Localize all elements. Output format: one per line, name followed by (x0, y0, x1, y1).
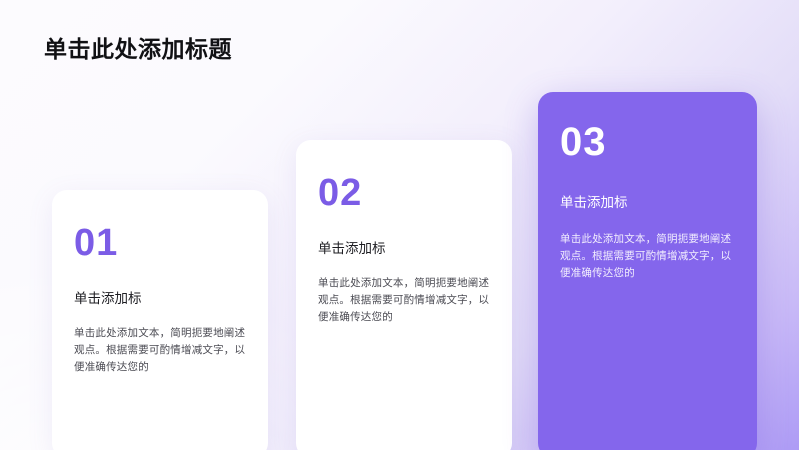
card-body-03[interactable]: 单击此处添加文本，简明扼要地阐述观点。根据需要可酌情增减文字，以便准确传达您的 (560, 231, 739, 282)
card-content-03: 03 单击添加标 单击此处添加文本，简明扼要地阐述观点。根据需要可酌情增减文字，… (560, 122, 739, 282)
content-card-03[interactable]: 03 单击添加标 单击此处添加文本，简明扼要地阐述观点。根据需要可酌情增减文字，… (538, 92, 757, 450)
page-title[interactable]: 单击此处添加标题 (44, 30, 232, 64)
card-number-03: 03 (560, 122, 739, 162)
card-content-01: 01 单击添加标 单击此处添加文本，简明扼要地阐述观点。根据需要可酌情增减文字，… (74, 224, 250, 376)
card-body-02[interactable]: 单击此处添加文本，简明扼要地阐述观点。根据需要可酌情增减文字，以便准确传达您的 (318, 275, 494, 326)
card-subtitle-02[interactable]: 单击添加标 (318, 240, 494, 258)
card-number-01: 01 (74, 224, 250, 262)
content-card-01[interactable]: 01 单击添加标 单击此处添加文本，简明扼要地阐述观点。根据需要可酌情增减文字，… (52, 190, 268, 450)
card-content-02: 02 单击添加标 单击此处添加文本，简明扼要地阐述观点。根据需要可酌情增减文字，… (318, 174, 494, 326)
card-subtitle-03[interactable]: 单击添加标 (560, 194, 739, 212)
card-body-01[interactable]: 单击此处添加文本，简明扼要地阐述观点。根据需要可酌情增减文字，以便准确传达您的 (74, 325, 250, 376)
card-number-02: 02 (318, 174, 494, 212)
content-card-02[interactable]: 02 单击添加标 单击此处添加文本，简明扼要地阐述观点。根据需要可酌情增减文字，… (296, 140, 512, 450)
card-subtitle-01[interactable]: 单击添加标 (74, 290, 250, 308)
slide-canvas: 单击此处添加标题 01 单击添加标 单击此处添加文本，简明扼要地阐述观点。根据需… (0, 0, 799, 450)
